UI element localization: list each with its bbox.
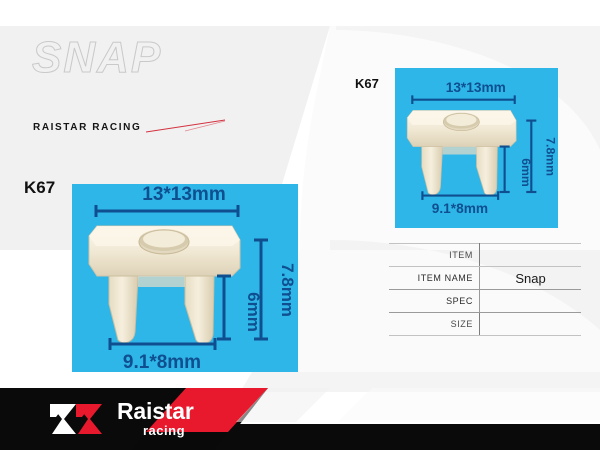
dimension-top-width-left: 13*13mm	[142, 184, 225, 205]
product-spec-sheet: SNAP RAISTAR RACING K67 13*13mm	[0, 0, 600, 450]
table-row: ITEM NAME Snap	[389, 267, 581, 290]
spec-value-size	[480, 313, 582, 336]
clip-leg-right-1	[422, 147, 443, 195]
spec-label-item: ITEM	[389, 244, 480, 267]
specification-table: ITEM ITEM NAME Snap SPEC SIZE	[389, 243, 581, 336]
footer-banner: Raistar racing	[0, 388, 600, 450]
footer-brand-name: Raistar	[117, 400, 194, 423]
product-code-right: K67	[355, 76, 379, 91]
spec-label-spec: SPEC	[389, 290, 480, 313]
dimension-line-inner-left	[217, 276, 231, 339]
table-row: ITEM	[389, 244, 581, 267]
dimension-bottom-width-left: 9.1*8mm	[123, 352, 201, 372]
spec-label-size: SIZE	[389, 313, 480, 336]
rr-chevron-logo-icon	[46, 402, 108, 436]
clip-leg-left-1	[109, 276, 138, 343]
product-code-left: K67	[24, 178, 55, 198]
footer-logo-text: Raistar racing	[117, 400, 194, 437]
product-photo-right: 13*13mm 6mm	[395, 68, 558, 228]
product-diagram-left: 13*13mm 6mm	[72, 184, 298, 372]
product-photo-left: 13*13mm 6mm	[72, 184, 298, 372]
spec-label-item-name: ITEM NAME	[389, 267, 480, 290]
dimension-line-top-right	[412, 95, 514, 104]
raistar-racing-tagline: RAISTAR RACING	[33, 122, 141, 133]
product-diagram-right: 13*13mm 6mm	[395, 68, 558, 228]
clip-leg-left-2	[185, 276, 214, 344]
dimension-bottom-width-right: 9.1*8mm	[432, 201, 488, 216]
dimension-line-top-left	[96, 205, 238, 217]
clip-leg-right-2	[477, 147, 498, 196]
dimension-top-width-right: 13*13mm	[446, 80, 506, 95]
dimension-total-height-right: 7.8mm	[543, 137, 557, 176]
dimension-total-height-left: 7.8mm	[278, 263, 297, 317]
table-row: SPEC	[389, 290, 581, 313]
spec-value-spec	[480, 290, 582, 313]
dimension-line-inner-right	[500, 147, 510, 192]
footer-logo: Raistar racing	[46, 400, 194, 437]
spec-value-item	[480, 244, 582, 267]
spec-value-item-name: Snap	[480, 267, 582, 290]
table-row: SIZE	[389, 313, 581, 336]
footer-brand-sub: racing	[143, 424, 194, 437]
red-swoosh-icon	[145, 118, 227, 134]
snap-watermark: SNAP	[32, 36, 162, 80]
